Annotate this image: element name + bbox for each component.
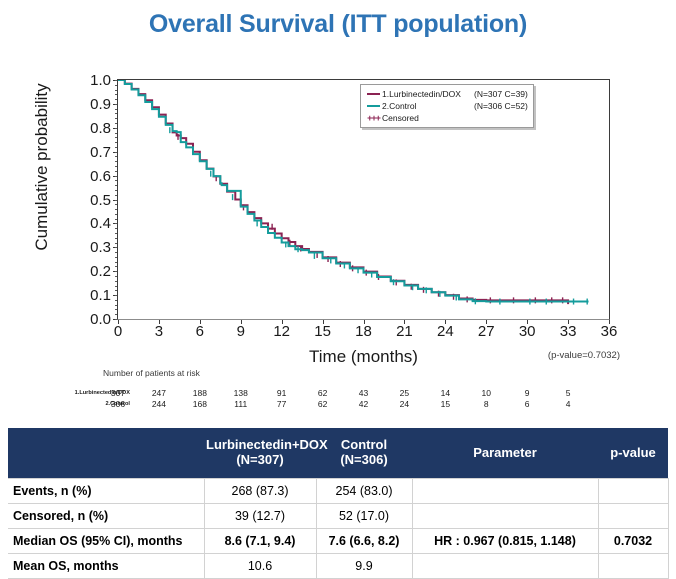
table-cell-lurbinectedin: 10.6	[204, 554, 316, 579]
y-axis-title: Cumulative probability	[32, 57, 52, 277]
legend-item: 2.Control(N=306 C=52)	[365, 100, 528, 112]
table-cell-lurbinectedin: 8.6 (7.1, 9.4)	[204, 529, 316, 554]
risk-count: 25	[386, 388, 422, 398]
x-tick-mark	[445, 320, 446, 324]
x-tick-mark	[364, 320, 365, 324]
y-tick-label: 0.3	[71, 240, 111, 255]
risk-count: 138	[223, 388, 259, 398]
x-tick-label: 18	[344, 324, 384, 339]
risk-count: 9	[509, 388, 545, 398]
header-line-1: Control	[318, 438, 410, 453]
y-tick-label: 0.2	[71, 264, 111, 279]
legend-series-name: 1.Lurbinectedin/DOX	[382, 89, 474, 99]
summary-statistics-table: Lurbinectedin+DOX (N=307) Control (N=306…	[8, 428, 669, 579]
risk-count: 306	[100, 399, 136, 409]
x-tick-label: 30	[507, 324, 547, 339]
table-header-row: Lurbinectedin+DOX (N=307) Control (N=306…	[8, 428, 668, 479]
risk-count: 188	[182, 388, 218, 398]
risk-count: 14	[427, 388, 463, 398]
y-tick-label: 0.9	[71, 97, 111, 112]
table-row: Median OS (95% CI), months8.6 (7.1, 9.4)…	[8, 529, 668, 554]
risk-count: 307	[100, 388, 136, 398]
table-row-label: Censored, n (%)	[8, 504, 204, 529]
risk-count: 5	[550, 388, 586, 398]
x-tick-mark	[609, 320, 610, 324]
header-line-2: (N=307)	[206, 453, 314, 468]
table-row-label: Median OS (95% CI), months	[8, 529, 204, 554]
risk-count: 6	[509, 399, 545, 409]
x-tick-label: 24	[425, 324, 465, 339]
risk-table-caption: Number of patients at risk	[103, 368, 200, 378]
y-tick-label: 0.5	[71, 193, 111, 208]
table-row: Censored, n (%)39 (12.7)52 (17.0)	[8, 504, 668, 529]
risk-count: 24	[386, 399, 422, 409]
header-line-2: (N=306)	[318, 453, 410, 468]
x-tick-label: 12	[262, 324, 302, 339]
x-tick-mark	[404, 320, 405, 324]
x-tick-mark	[527, 320, 528, 324]
risk-count: 43	[346, 388, 382, 398]
table-cell-lurbinectedin: 268 (87.3)	[204, 479, 316, 504]
table-cell-parameter	[412, 504, 598, 529]
y-tick-label: 0.4	[71, 216, 111, 231]
table-cell-pvalue	[598, 554, 668, 579]
x-tick-mark	[568, 320, 569, 324]
x-tick-label: 27	[466, 324, 506, 339]
table-cell-control: 7.6 (6.6, 8.2)	[316, 529, 412, 554]
x-tick-mark	[323, 320, 324, 324]
legend-label: 1.Lurbinectedin/DOX(N=307 C=39)	[382, 89, 528, 99]
legend-line-swatch-icon	[365, 102, 382, 111]
risk-count: 247	[141, 388, 177, 398]
table-header-cell-pvalue: p-value	[598, 428, 668, 479]
header-line-1: Lurbinectedin+DOX	[206, 438, 314, 453]
x-tick-label: 36	[589, 324, 629, 339]
legend-line-swatch-icon	[365, 90, 382, 99]
legend-swatch	[367, 93, 380, 95]
table-header-cell-parameter: Parameter	[412, 428, 598, 479]
x-tick-label: 33	[548, 324, 588, 339]
table-cell-parameter	[412, 554, 598, 579]
x-tick-label: 6	[180, 324, 220, 339]
table-cell-pvalue	[598, 504, 668, 529]
risk-count: 168	[182, 399, 218, 409]
legend-series-counts: (N=306 C=52)	[474, 101, 528, 111]
x-tick-mark	[241, 320, 242, 324]
x-tick-mark	[118, 320, 119, 324]
table-row: Mean OS, months10.69.9	[8, 554, 668, 579]
table-cell-pvalue	[598, 479, 668, 504]
table-row: Events, n (%)268 (87.3)254 (83.0)	[8, 479, 668, 504]
table-row-label: Events, n (%)	[8, 479, 204, 504]
table-cell-lurbinectedin: 39 (12.7)	[204, 504, 316, 529]
risk-count: 62	[305, 388, 341, 398]
y-tick-label: 1.0	[71, 73, 111, 88]
table-row-label: Mean OS, months	[8, 554, 204, 579]
legend-series-name: 2.Control	[382, 101, 474, 111]
risk-count: 77	[264, 399, 300, 409]
chart-legend: 1.Lurbinectedin/DOX(N=307 C=39)2.Control…	[360, 84, 534, 128]
risk-count: 4	[550, 399, 586, 409]
x-tick-mark	[159, 320, 160, 324]
page-title: Overall Survival (ITT population)	[0, 10, 676, 39]
table-header-cell-blank	[8, 428, 204, 479]
table-header-cell-lurbinectedin: Lurbinectedin+DOX (N=307)	[204, 428, 316, 479]
legend-item: +++Censored	[365, 112, 528, 124]
table-cell-pvalue: 0.7032	[598, 529, 668, 554]
y-tick-label: 0.1	[71, 288, 111, 303]
risk-count: 91	[264, 388, 300, 398]
risk-count: 111	[223, 399, 259, 409]
x-tick-label: 15	[303, 324, 343, 339]
x-tick-label: 9	[221, 324, 261, 339]
x-tick-label: 21	[384, 324, 424, 339]
legend-series-counts: (N=307 C=39)	[474, 89, 528, 99]
y-tick-label: 0.7	[71, 145, 111, 160]
x-tick-mark	[486, 320, 487, 324]
x-tick-label: 0	[98, 324, 138, 339]
risk-count: 10	[468, 388, 504, 398]
risk-count: 8	[468, 399, 504, 409]
table-cell-control: 254 (83.0)	[316, 479, 412, 504]
y-tick-label: 0.8	[71, 121, 111, 136]
x-tick-mark	[200, 320, 201, 324]
table-header-cell-control: Control (N=306)	[316, 428, 412, 479]
number-at-risk-table: Number of patients at risk 1.Lurbinected…	[0, 368, 676, 414]
chart-pvalue-annotation: (p-value=0.7032)	[430, 350, 620, 361]
table-cell-control: 9.9	[316, 554, 412, 579]
x-tick-label: 3	[139, 324, 179, 339]
table-cell-parameter: HR : 0.967 (0.815, 1.148)	[412, 529, 598, 554]
legend-item: 1.Lurbinectedin/DOX(N=307 C=39)	[365, 88, 528, 100]
table-header: Lurbinectedin+DOX (N=307) Control (N=306…	[8, 428, 668, 479]
table-cell-control: 52 (17.0)	[316, 504, 412, 529]
table-cell-parameter	[412, 479, 598, 504]
risk-count: 15	[427, 399, 463, 409]
risk-count: 244	[141, 399, 177, 409]
censored-marks-icon: +++	[365, 114, 382, 123]
y-tick-label: 0.6	[71, 169, 111, 184]
legend-label: Censored	[382, 113, 419, 123]
risk-count: 42	[346, 399, 382, 409]
x-tick-mark	[282, 320, 283, 324]
legend-label: 2.Control(N=306 C=52)	[382, 101, 528, 111]
legend-swatch	[367, 105, 380, 107]
risk-count: 62	[305, 399, 341, 409]
